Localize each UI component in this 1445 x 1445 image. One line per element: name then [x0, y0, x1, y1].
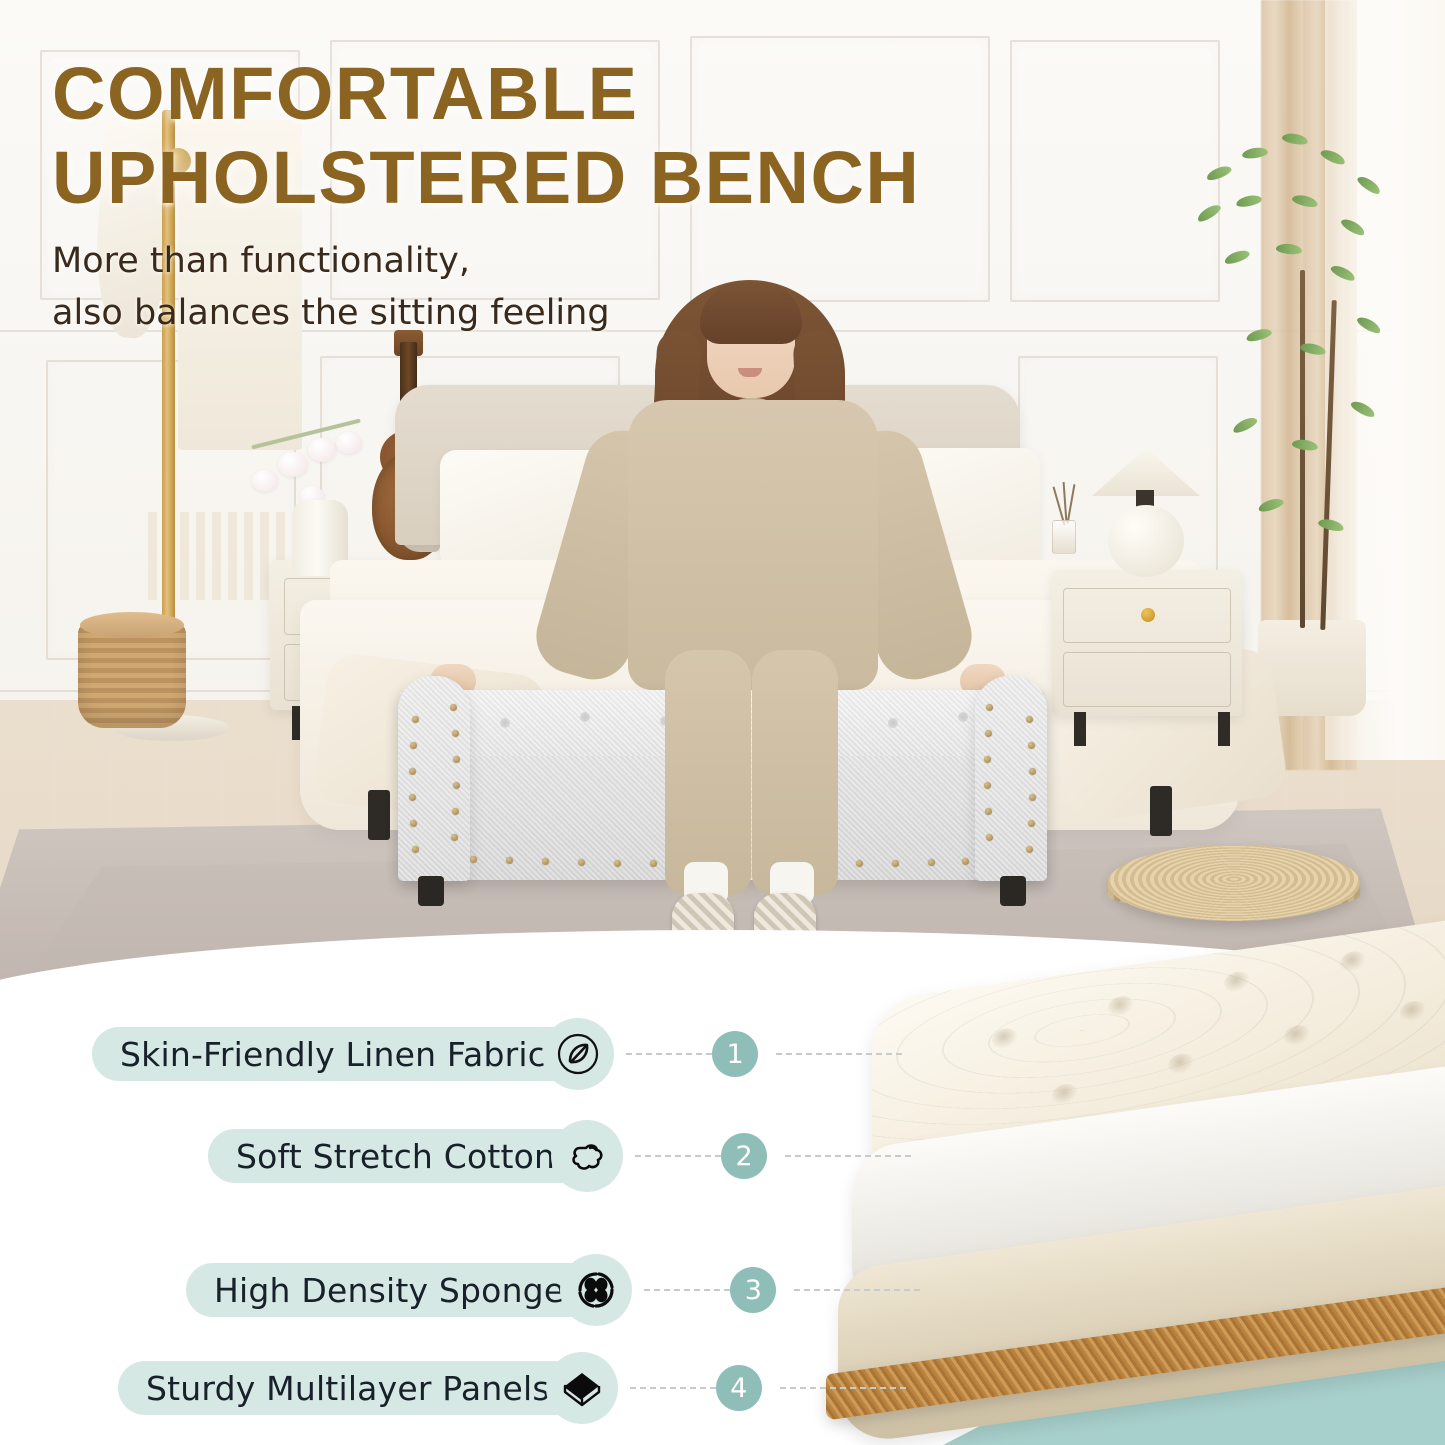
feature-label-3: High Density Sponge	[214, 1271, 564, 1310]
leaf-icon	[542, 1018, 614, 1090]
product-infographic: COMFORTABLE UPHOLSTERED BENCH More than …	[0, 0, 1445, 1445]
nightstand-drawer	[1063, 652, 1230, 707]
feature-pill-4[interactable]: Sturdy Multilayer Panels	[118, 1361, 612, 1415]
headline-block: COMFORTABLE UPHOLSTERED BENCH More than …	[52, 52, 1112, 338]
feature-label-1: Skin-Friendly Linen Fabric	[120, 1035, 546, 1074]
subheadline-line-1: More than functionality,	[52, 236, 1112, 286]
bed-leg	[1150, 786, 1172, 836]
connector-line-2	[635, 1155, 721, 1157]
woman-leg	[752, 650, 838, 895]
feature-number-2: 2	[721, 1133, 767, 1179]
feature-number-1: 1	[712, 1031, 758, 1077]
nightstand-leg	[1074, 712, 1086, 746]
plaid-slipper	[672, 893, 734, 945]
orchid-bloom	[278, 452, 308, 477]
subheadline-line-2: also balances the sitting feeling	[52, 288, 1112, 338]
feature-pill-3[interactable]: High Density Sponge	[186, 1263, 626, 1317]
plaid-slipper	[754, 893, 816, 945]
feature-number-4: 4	[716, 1365, 762, 1411]
connector-line-1b	[776, 1053, 902, 1055]
bench-foot	[1000, 876, 1026, 906]
connector-line-3	[644, 1289, 730, 1291]
connector-line-1	[626, 1053, 712, 1055]
orchid-bloom	[336, 432, 362, 454]
woven-basket-rim	[80, 612, 184, 638]
teal-accent-wedge	[760, 1330, 1445, 1445]
feature-number-3: 3	[730, 1267, 776, 1313]
orchid-bloom	[252, 470, 278, 492]
right-nightstand	[1052, 570, 1242, 716]
feature-row-3[interactable]: High Density Sponge	[186, 1254, 920, 1326]
woman-leg	[665, 650, 751, 895]
seat-tuft	[580, 712, 590, 722]
panel-board-icon	[546, 1352, 618, 1424]
seat-tuft	[958, 712, 968, 722]
feature-label-2: Soft Stretch Cotton	[236, 1137, 555, 1176]
layer-stretch-cotton	[852, 1054, 1445, 1328]
headline-line-1: COMFORTABLE	[52, 52, 1112, 136]
orchid-bloom	[308, 438, 336, 462]
bench-arm-left	[398, 676, 470, 881]
layer-high-density-sponge	[838, 1177, 1445, 1445]
connector-line-2b	[785, 1155, 911, 1157]
cloud-cotton-icon	[551, 1120, 623, 1192]
nightstand-leg	[1218, 712, 1230, 746]
feature-pill-1[interactable]: Skin-Friendly Linen Fabric	[92, 1027, 608, 1081]
seat-tuft	[500, 718, 510, 728]
headline-line-2: UPHOLSTERED BENCH	[52, 136, 1112, 220]
seat-tuft	[888, 718, 898, 728]
feature-row-4[interactable]: Sturdy Multilayer Panels 4	[118, 1352, 906, 1424]
lamp-base	[1108, 505, 1184, 577]
layer-panel-underside	[826, 1313, 1445, 1420]
sponge-cells-icon	[560, 1254, 632, 1326]
layer-linen-fabric-edge	[872, 1077, 1445, 1201]
bench-foot	[418, 876, 444, 906]
connector-line-3b	[794, 1289, 920, 1291]
feature-row-2[interactable]: Soft Stretch Cotton 2	[208, 1120, 911, 1192]
layer-multilayer-panel	[826, 1281, 1445, 1420]
feature-row-1[interactable]: Skin-Friendly Linen Fabric 1	[92, 1018, 902, 1090]
connector-line-4	[630, 1387, 716, 1389]
feature-label-4: Sturdy Multilayer Panels	[146, 1369, 550, 1408]
connector-line-4b	[780, 1387, 906, 1389]
feature-pill-2[interactable]: Soft Stretch Cotton	[208, 1129, 617, 1183]
straw-pouf	[1108, 845, 1360, 921]
woman-sweater	[628, 400, 878, 690]
reed-diffuser	[1052, 520, 1076, 554]
bed-leg	[368, 790, 390, 840]
